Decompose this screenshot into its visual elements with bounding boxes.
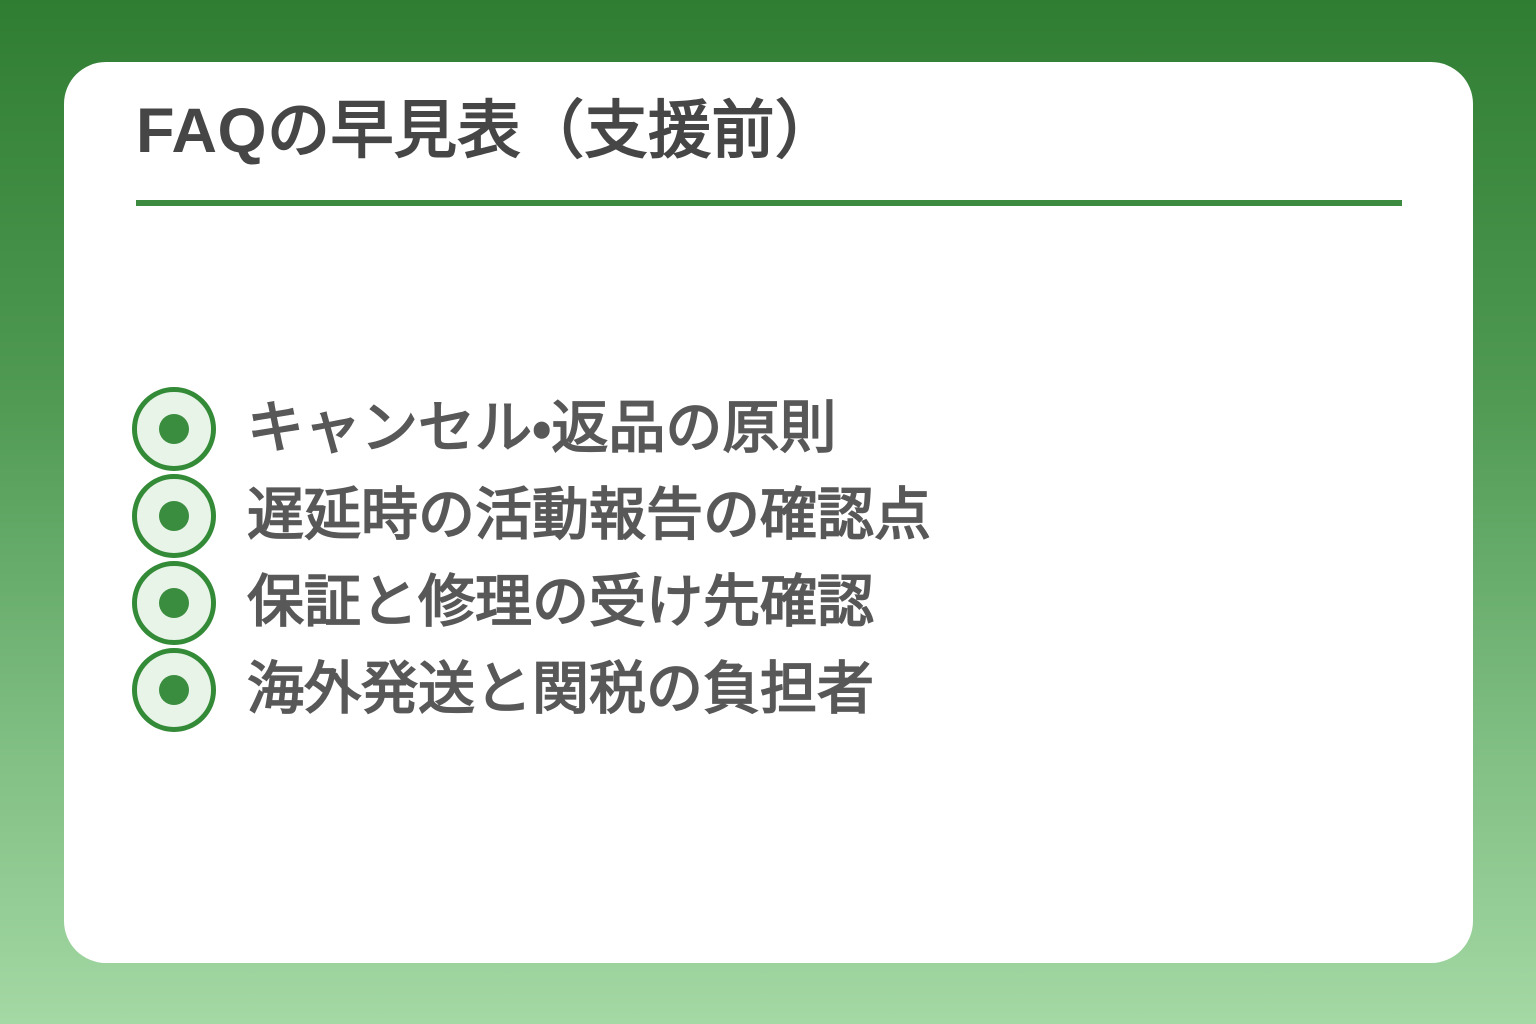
page-title: FAQの早見表（支援前） xyxy=(136,96,1402,167)
filled-circle-bullet-icon xyxy=(132,474,216,558)
list-item[interactable]: 海外発送と関税の負担者 xyxy=(132,646,1432,733)
filled-circle-bullet-icon xyxy=(132,648,216,732)
filled-circle-bullet-icon xyxy=(132,387,216,471)
title-underline-divider xyxy=(136,200,1402,206)
filled-circle-bullet-icon xyxy=(132,561,216,645)
list-item[interactable]: 遅延時の活動報告の確認点 xyxy=(132,472,1432,559)
bullet-list: キャンセル・返品の原則 遅延時の活動報告の確認点 保証と修理の受け先確認 海外発… xyxy=(132,385,1432,733)
bullet-inner-dot xyxy=(159,588,189,618)
bullet-inner-dot xyxy=(159,414,189,444)
bullet-inner-dot xyxy=(159,501,189,531)
list-item-label: 保証と修理の受け先確認 xyxy=(247,574,874,631)
list-item[interactable]: キャンセル・返品の原則 xyxy=(132,385,1432,472)
bullet-inner-dot xyxy=(159,675,189,705)
list-item-label: 海外発送と関税の負担者 xyxy=(247,661,874,718)
list-item-label: キャンセル・返品の原則 xyxy=(247,400,836,457)
slide-canvas: FAQの早見表（支援前） キャンセル・返品の原則 遅延時の活動報告の確認点 xyxy=(0,0,1536,1024)
title-block: FAQの早見表（支援前） xyxy=(136,96,1402,167)
list-item-label: 遅延時の活動報告の確認点 xyxy=(247,487,931,544)
list-item[interactable]: 保証と修理の受け先確認 xyxy=(132,559,1432,646)
content-card: FAQの早見表（支援前） キャンセル・返品の原則 遅延時の活動報告の確認点 xyxy=(64,62,1473,963)
